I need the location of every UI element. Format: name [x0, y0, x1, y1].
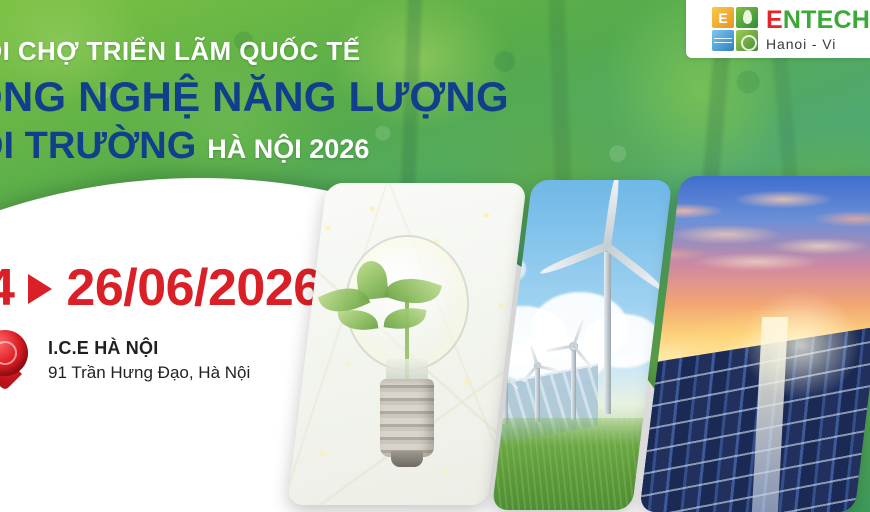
earth-nature-icon — [736, 30, 758, 51]
lightbulb-scene — [287, 183, 527, 505]
logo-icon-tiles: E — [712, 7, 758, 51]
panel-sun-reflection — [741, 290, 861, 400]
logo-name-first: E — [766, 6, 783, 34]
turbine-mast — [535, 368, 540, 422]
turbine-blade — [539, 242, 609, 276]
entech-logo: E ENTECH Hanoi - Vi — [686, 0, 870, 58]
logo-wordmark: ENTECH Hanoi - Vi — [766, 8, 870, 51]
photo-panel-group — [0, 0, 870, 512]
bulb-neck — [386, 359, 428, 381]
bulb-contact-tip — [391, 451, 423, 467]
turbine-mast — [604, 246, 611, 414]
leaf-drop-icon — [736, 7, 758, 28]
turbine-blade — [504, 360, 509, 377]
wind-turbine-main — [562, 180, 652, 414]
logo-name: ENTECH — [766, 8, 870, 33]
solar-scene — [639, 176, 870, 512]
logo-tile-e-label: E — [712, 7, 734, 28]
turbine-blade — [605, 243, 667, 294]
logo-name-rest: NTECH — [783, 6, 870, 34]
logo-subtitle: Hanoi - Vi — [766, 37, 870, 51]
turbine-blade — [603, 180, 621, 247]
event-banner: ỘI CHỢ TRIỂN LÃM QUỐC TẾ ÔNG NGHỆ NĂNG L… — [0, 0, 870, 512]
water-waves-icon — [712, 30, 734, 51]
wind-turbine — [522, 348, 552, 422]
bulb-screw-base — [380, 379, 434, 457]
energy-e-icon: E — [712, 7, 734, 28]
lightbulb-plant-photo — [287, 183, 527, 505]
solar-panel-photo — [639, 176, 870, 512]
